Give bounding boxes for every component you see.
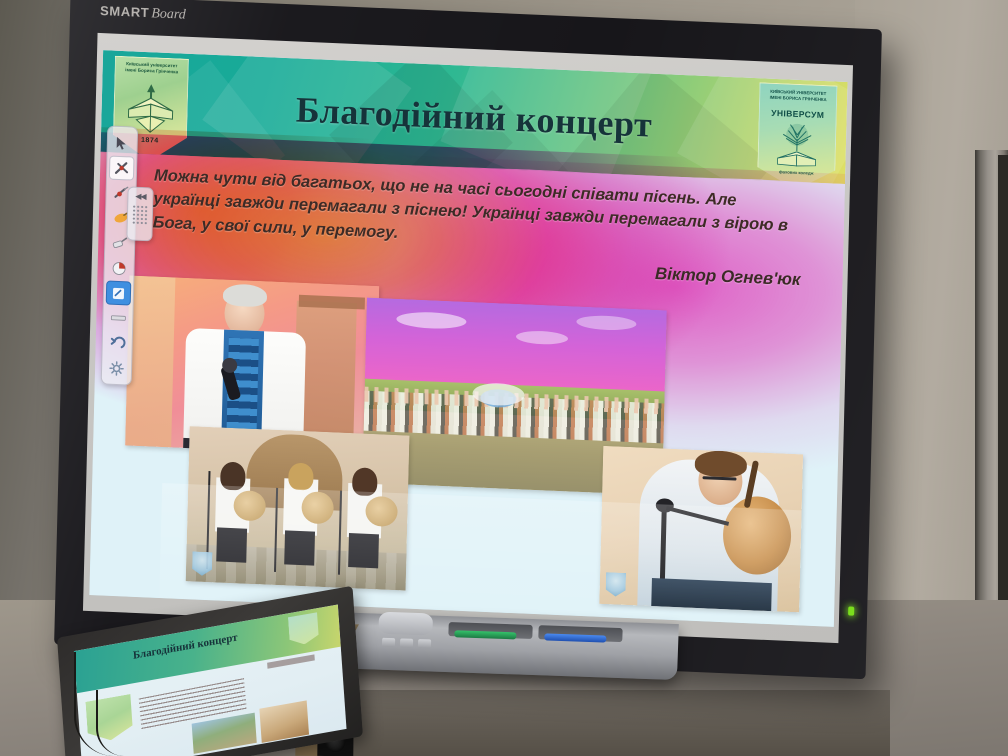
right-click-button[interactable] xyxy=(400,638,413,647)
help-button[interactable] xyxy=(418,639,431,648)
photo-cellist xyxy=(599,446,803,613)
universum-wordmark: УНІВЕРСУМ xyxy=(760,107,836,120)
tree-over-book-icon xyxy=(773,120,820,174)
slide-body: Можна чути від багатьох, що не на часі с… xyxy=(89,152,845,627)
classroom-scene: SMARTBoard Київський університет імені Б… xyxy=(0,0,1008,756)
pen-blue[interactable] xyxy=(544,633,606,642)
quote-text: Можна чути від багатьох, що не на часі с… xyxy=(152,164,793,262)
smart-board-logo: SMARTBoard xyxy=(100,3,186,24)
undo-tool[interactable] xyxy=(104,330,130,355)
photo-bandura-trio xyxy=(186,426,410,590)
text-tool[interactable] xyxy=(106,280,132,305)
pen-green-slot[interactable] xyxy=(448,622,532,639)
tray-eraser[interactable] xyxy=(378,612,433,636)
settings-tool[interactable] xyxy=(104,355,130,380)
properties-flyout[interactable]: ◀◀ xyxy=(126,186,153,241)
line-tool[interactable] xyxy=(105,305,131,330)
keyboard-button[interactable] xyxy=(382,638,395,647)
board-writing-surface[interactable]: Київський університет імені Бориса Грінч… xyxy=(83,33,853,643)
quote-author: Віктор Огнев'юк xyxy=(655,264,801,290)
collapse-icon[interactable]: ◀◀ xyxy=(135,192,146,201)
pen-green[interactable] xyxy=(454,630,516,639)
select-arrow-tool[interactable] xyxy=(110,131,136,156)
power-status-led xyxy=(848,606,854,615)
door-opening xyxy=(998,155,1008,625)
pen-blue-slot[interactable] xyxy=(538,625,622,642)
desk-surface xyxy=(330,690,890,756)
monitor-photo-cellist xyxy=(260,701,310,743)
transparency-grid-icon xyxy=(132,205,148,226)
smart-notebook-floating-toolbar[interactable] xyxy=(101,125,139,385)
smart-board[interactable]: SMARTBoard Київський університет імені Б… xyxy=(54,0,882,679)
pen-tool[interactable] xyxy=(109,156,135,181)
projected-slide: Київський університет імені Бориса Грінч… xyxy=(89,50,847,627)
universum-logo: КИЇВСЬКИЙ УНІВЕРСИТЕТ ІМЕНІ БОРИСА ГРІНЧ… xyxy=(757,82,838,184)
shape-fill-tool[interactable] xyxy=(106,256,132,281)
